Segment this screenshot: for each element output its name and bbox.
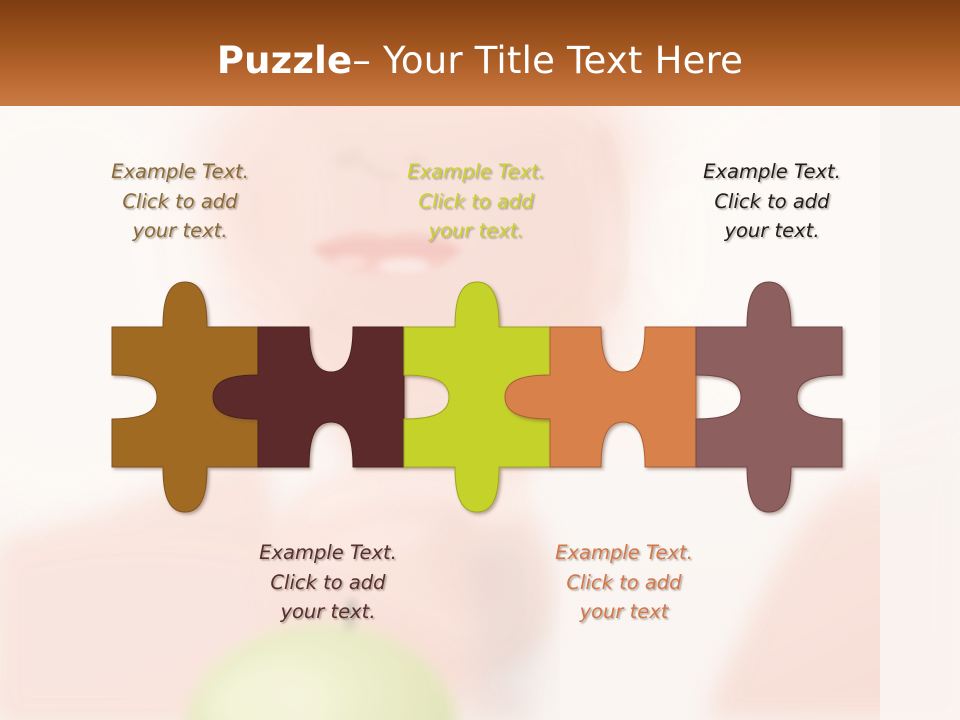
callout-line: your text. [104,216,256,246]
callout-line: your text. [400,216,552,246]
callout-text-bottom-left[interactable]: Example Text. Click to add your text. [252,538,404,627]
page-title-strong: Puzzle [217,39,353,82]
callout-line: Example Text. [104,157,256,187]
page-title-rest: – Your Title Text Here [352,39,743,82]
callout-text-top-right[interactable]: Example Text. Click to add your text. [696,157,848,246]
callout-line: Click to add [548,568,700,598]
callout-line: Example Text. [696,157,848,187]
puzzle-graphic [0,0,960,720]
callout-line: Click to add [252,568,404,598]
callout-line: your text [548,597,700,627]
callout-line: Example Text. [252,538,404,568]
callout-line: Example Text. [548,538,700,568]
puzzle-piece-mauve[interactable] [696,282,842,512]
callout-line: Example Text. [400,157,552,187]
callout-text-bottom-right[interactable]: Example Text. Click to add your text [548,538,700,627]
slide-canvas: Puzzle – Your Title Text Here [0,0,960,720]
callout-line: Click to add [696,187,848,217]
callout-line: Click to add [400,187,552,217]
callout-line: your text. [696,216,848,246]
callout-text-top-center[interactable]: Example Text. Click to add your text. [400,157,552,246]
callout-line: Click to add [104,187,256,217]
callout-text-top-left[interactable]: Example Text. Click to add your text. [104,157,256,246]
callout-line: your text. [252,597,404,627]
page-title: Puzzle – Your Title Text Here [0,0,960,106]
